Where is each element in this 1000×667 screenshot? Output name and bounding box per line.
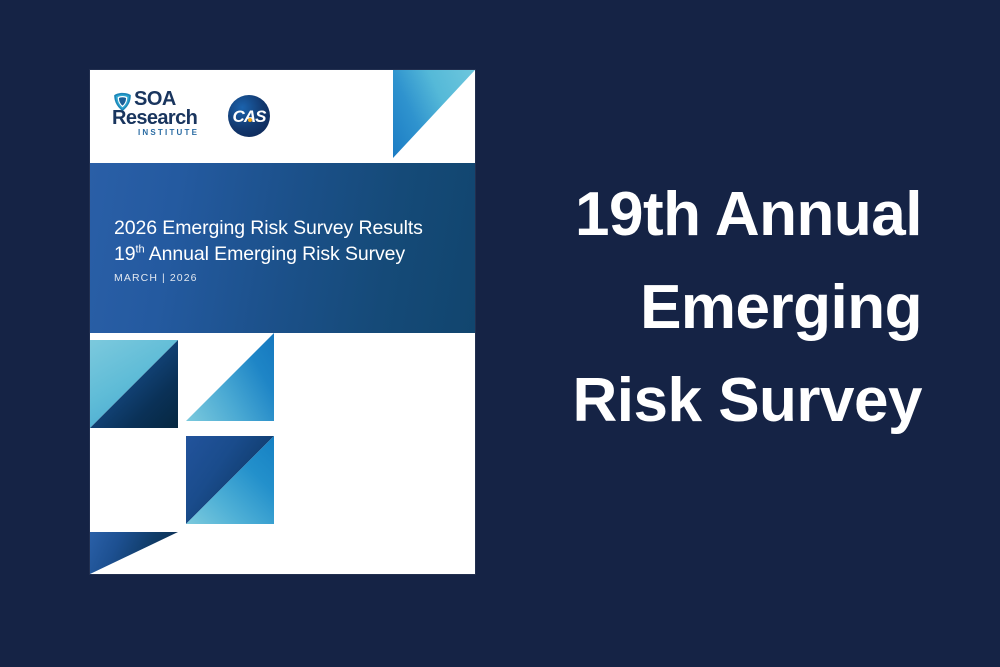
headline-line-3: Risk Survey [500, 354, 922, 447]
decor-triangle-icon [90, 532, 178, 574]
cover-title-line-2: 19th Annual Emerging Risk Survey [114, 241, 423, 267]
cas-logo-dot-icon [248, 118, 252, 122]
cover-decorative-area [90, 333, 475, 574]
cover-title-line-2-rest: Annual Emerging Risk Survey [144, 243, 405, 265]
cover-header: SOA Research INSTITUTE CAS [90, 70, 475, 163]
headline-line-1: 19th Annual [500, 168, 922, 261]
cover-title-banner: 2026 Emerging Risk Survey Results 19th A… [90, 163, 475, 333]
soa-research-institute-logo: SOA Research INSTITUTE [112, 90, 210, 142]
cas-logo: CAS [228, 95, 270, 137]
report-cover: SOA Research INSTITUTE CAS 2026 Emerging… [90, 70, 475, 574]
cover-title-ordinal-number: 19 [114, 243, 136, 265]
header-corner-triangle-icon [393, 70, 475, 158]
soa-logo-text-institute: INSTITUTE [138, 128, 199, 137]
cover-title-block: 2026 Emerging Risk Survey Results 19th A… [114, 215, 423, 284]
headline-line-2: Emerging [500, 261, 922, 354]
soa-logo-text-soa: SOA [134, 89, 176, 109]
soa-logo-text-research: Research [112, 108, 197, 128]
page-title: 19th Annual Emerging Risk Survey [500, 168, 922, 447]
decor-square-1 [90, 340, 178, 428]
logo-row: SOA Research INSTITUTE CAS [112, 90, 270, 142]
decor-square-2 [186, 333, 274, 421]
decor-square-4 [90, 532, 178, 574]
cover-publication-date: MARCH | 2026 [114, 272, 423, 284]
slide-canvas: SOA Research INSTITUTE CAS 2026 Emerging… [0, 0, 1000, 667]
decor-triangle-icon [186, 333, 274, 421]
cover-title-line-1: 2026 Emerging Risk Survey Results [114, 215, 423, 241]
decor-square-3 [186, 436, 274, 524]
